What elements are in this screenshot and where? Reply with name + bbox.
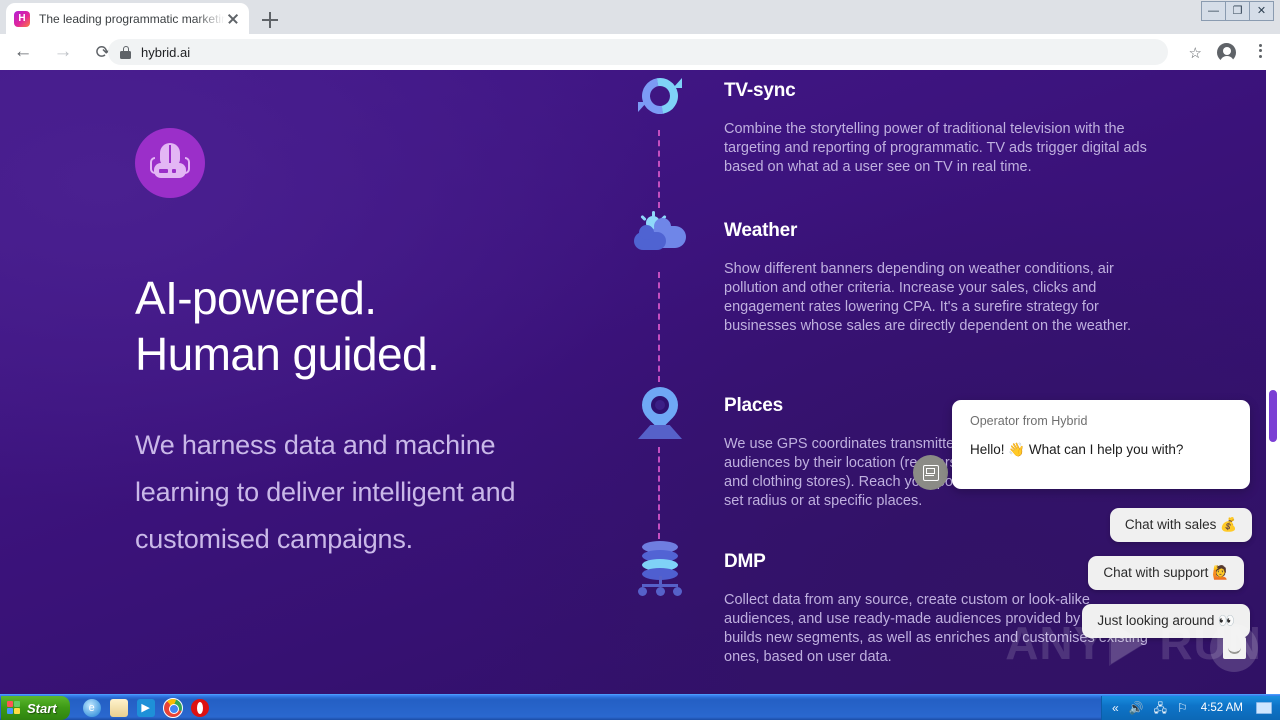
feature-body: Show different banners depending on weat…	[724, 260, 1164, 336]
lock-icon	[120, 46, 131, 59]
hero-section: AI-powered. Human guided. We harness dat…	[135, 128, 605, 563]
weather-cloud-icon	[634, 216, 694, 276]
flag-icon[interactable]: ⚐	[1177, 702, 1188, 714]
avatar-glyph-icon	[923, 465, 939, 481]
opera-icon[interactable]	[191, 699, 209, 717]
url-text: hybrid.ai	[141, 45, 190, 60]
google-chrome-icon[interactable]	[164, 699, 182, 717]
minimize-icon[interactable]: —	[1201, 1, 1226, 21]
chat-message-bubble[interactable]: Operator from Hybrid Hello! 👋 What can I…	[952, 400, 1250, 489]
feature-item-weather: Weather Show different banners depending…	[630, 210, 1190, 385]
taskbar: Start e ▶ « 🔊 🖧 ⚐ 4:52 AM	[0, 694, 1280, 720]
close-window-icon[interactable]: ✕	[1249, 1, 1274, 21]
hero-subcopy: We harness data and machine learning to …	[135, 422, 535, 563]
show-desktop-button[interactable]	[1256, 702, 1272, 714]
headline-line-2: Human guided.	[135, 328, 439, 380]
chat-launcher-icon	[1223, 637, 1246, 659]
profile-icon[interactable]	[1217, 43, 1236, 62]
map-pin-icon	[638, 387, 698, 447]
internet-explorer-icon[interactable]: e	[83, 699, 101, 717]
quick-reply-support[interactable]: Chat with support 🙋	[1088, 556, 1244, 590]
chat-operator-name: Operator from Hybrid	[970, 414, 1232, 428]
kebab-menu-icon[interactable]	[1252, 42, 1268, 62]
tv-sync-icon	[636, 74, 696, 134]
page-viewport: AI-powered. Human guided. We harness dat…	[0, 70, 1280, 694]
start-label: Start	[27, 701, 57, 716]
hybrid-brain-logo-icon	[135, 128, 205, 198]
timeline-connector	[658, 447, 660, 539]
network-icon[interactable]: 🖧	[1154, 702, 1167, 714]
address-bar[interactable]: hybrid.ai	[108, 39, 1168, 65]
tab-strip: H The leading programmatic marketing — ❐…	[0, 0, 1280, 34]
quick-launch-bar: e ▶	[83, 699, 209, 717]
browser-window: H The leading programmatic marketing — ❐…	[0, 0, 1280, 694]
taskbar-clock[interactable]: 4:52 AM	[1201, 702, 1243, 714]
chat-operator-avatar	[913, 455, 948, 490]
window-controls: — ❐ ✕	[1202, 1, 1274, 21]
back-icon[interactable]: ←	[6, 35, 40, 69]
timeline-connector	[658, 272, 660, 382]
feature-list: TV-sync Combine the storytelling power o…	[630, 70, 1190, 691]
feature-title: Places	[724, 395, 783, 417]
browser-tab[interactable]: H The leading programmatic marketing	[6, 3, 249, 34]
chat-launcher-button[interactable]	[1210, 624, 1258, 672]
system-tray: « 🔊 🖧 ⚐ 4:52 AM	[1101, 696, 1280, 720]
feature-item-tv-sync: TV-sync Combine the storytelling power o…	[630, 70, 1190, 210]
feature-title: DMP	[724, 551, 766, 573]
headline-line-1: AI-powered.	[135, 272, 376, 324]
scrollbar-thumb[interactable]	[1269, 390, 1277, 442]
show-hidden-icons-button[interactable]: «	[1112, 702, 1119, 714]
start-button[interactable]: Start	[1, 696, 70, 720]
tab-title: The leading programmatic marketing	[39, 12, 225, 26]
media-player-icon[interactable]: ▶	[137, 699, 155, 717]
new-tab-button[interactable]	[257, 7, 283, 33]
page-scrollbar[interactable]	[1266, 70, 1280, 694]
volume-icon[interactable]: 🔊	[1129, 702, 1144, 714]
bookmark-star-icon[interactable]: ☆	[1189, 44, 1202, 62]
windows-flag-icon	[7, 701, 22, 716]
page-title: AI-powered. Human guided.	[135, 270, 605, 382]
database-icon	[636, 541, 696, 601]
tab-favicon: H	[14, 11, 30, 27]
timeline-connector	[658, 130, 660, 208]
navigation-bar: ← → ⟳ hybrid.ai ☆	[0, 34, 1280, 70]
restore-icon[interactable]: ❐	[1225, 1, 1250, 21]
feature-title: Weather	[724, 220, 797, 242]
forward-icon[interactable]: →	[46, 35, 80, 69]
feature-body: Combine the storytelling power of tradit…	[724, 120, 1164, 177]
feature-title: TV-sync	[724, 80, 795, 102]
file-explorer-icon[interactable]	[110, 699, 128, 717]
chat-greeting-text: Hello! 👋 What can I help you with?	[970, 442, 1232, 458]
close-icon[interactable]	[225, 11, 241, 27]
quick-reply-sales[interactable]: Chat with sales 💰	[1110, 508, 1252, 542]
